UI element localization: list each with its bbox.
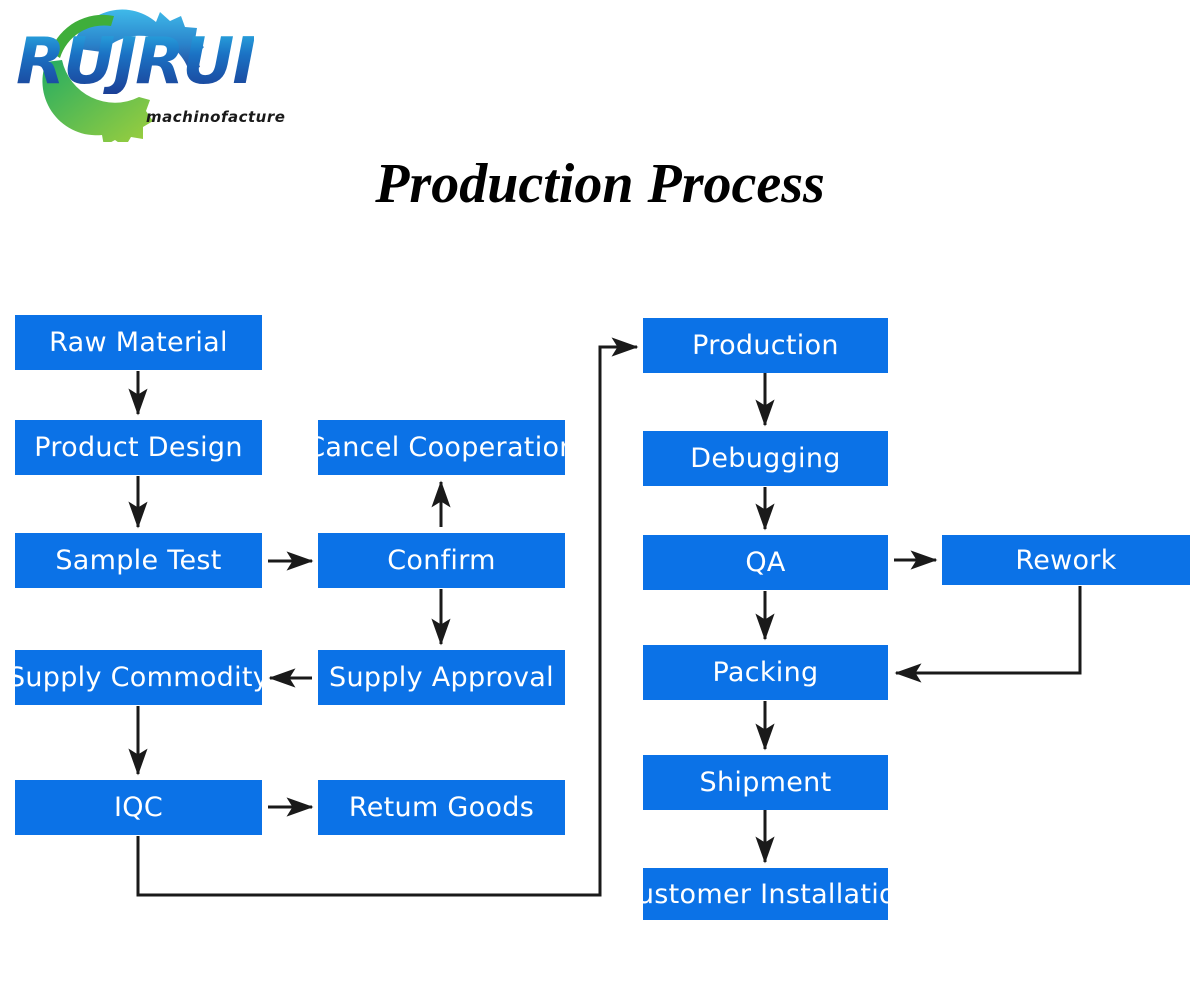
node-label: Production bbox=[692, 332, 839, 359]
node-label: Debugging bbox=[690, 445, 840, 472]
node-label: Supply Approval bbox=[329, 664, 554, 691]
node-confirm[interactable]: Confirm bbox=[318, 533, 565, 588]
node-label: Raw Material bbox=[49, 329, 228, 356]
node-label: Customer Installation bbox=[618, 881, 914, 908]
node-label: Retum Goods bbox=[349, 794, 534, 821]
node-iqc[interactable]: IQC bbox=[15, 780, 262, 835]
node-packing[interactable]: Packing bbox=[643, 645, 888, 700]
node-supply-approval[interactable]: Supply Approval bbox=[318, 650, 565, 705]
node-label: Cancel Cooperation bbox=[306, 434, 576, 461]
node-cancel-cooperation[interactable]: Cancel Cooperation bbox=[318, 420, 565, 475]
flow-connectors bbox=[0, 0, 1200, 1000]
node-supply-commodity[interactable]: Supply Commodity bbox=[15, 650, 262, 705]
node-sample-test[interactable]: Sample Test bbox=[15, 533, 262, 588]
node-customer-installation[interactable]: Customer Installation bbox=[643, 868, 888, 920]
edge-rework-to-packing bbox=[896, 586, 1080, 673]
node-label: Packing bbox=[713, 659, 819, 686]
node-product-design[interactable]: Product Design bbox=[15, 420, 262, 475]
node-label: Product Design bbox=[34, 434, 243, 461]
node-label: Rework bbox=[1015, 547, 1116, 574]
node-label: Sample Test bbox=[55, 547, 221, 574]
node-rework[interactable]: Rework bbox=[942, 535, 1190, 585]
node-production[interactable]: Production bbox=[643, 318, 888, 373]
node-debugging[interactable]: Debugging bbox=[643, 431, 888, 486]
node-label: QA bbox=[745, 549, 785, 576]
node-shipment[interactable]: Shipment bbox=[643, 755, 888, 810]
production-process-flowchart: Raw Material Product Design Sample Test … bbox=[0, 0, 1200, 1000]
node-label: IQC bbox=[114, 794, 163, 821]
node-label: Confirm bbox=[387, 547, 496, 574]
node-return-goods[interactable]: Retum Goods bbox=[318, 780, 565, 835]
node-qa[interactable]: QA bbox=[643, 535, 888, 590]
node-label: Shipment bbox=[700, 769, 832, 796]
node-raw-material[interactable]: Raw Material bbox=[15, 315, 262, 370]
node-label: Supply Commodity bbox=[8, 664, 269, 691]
